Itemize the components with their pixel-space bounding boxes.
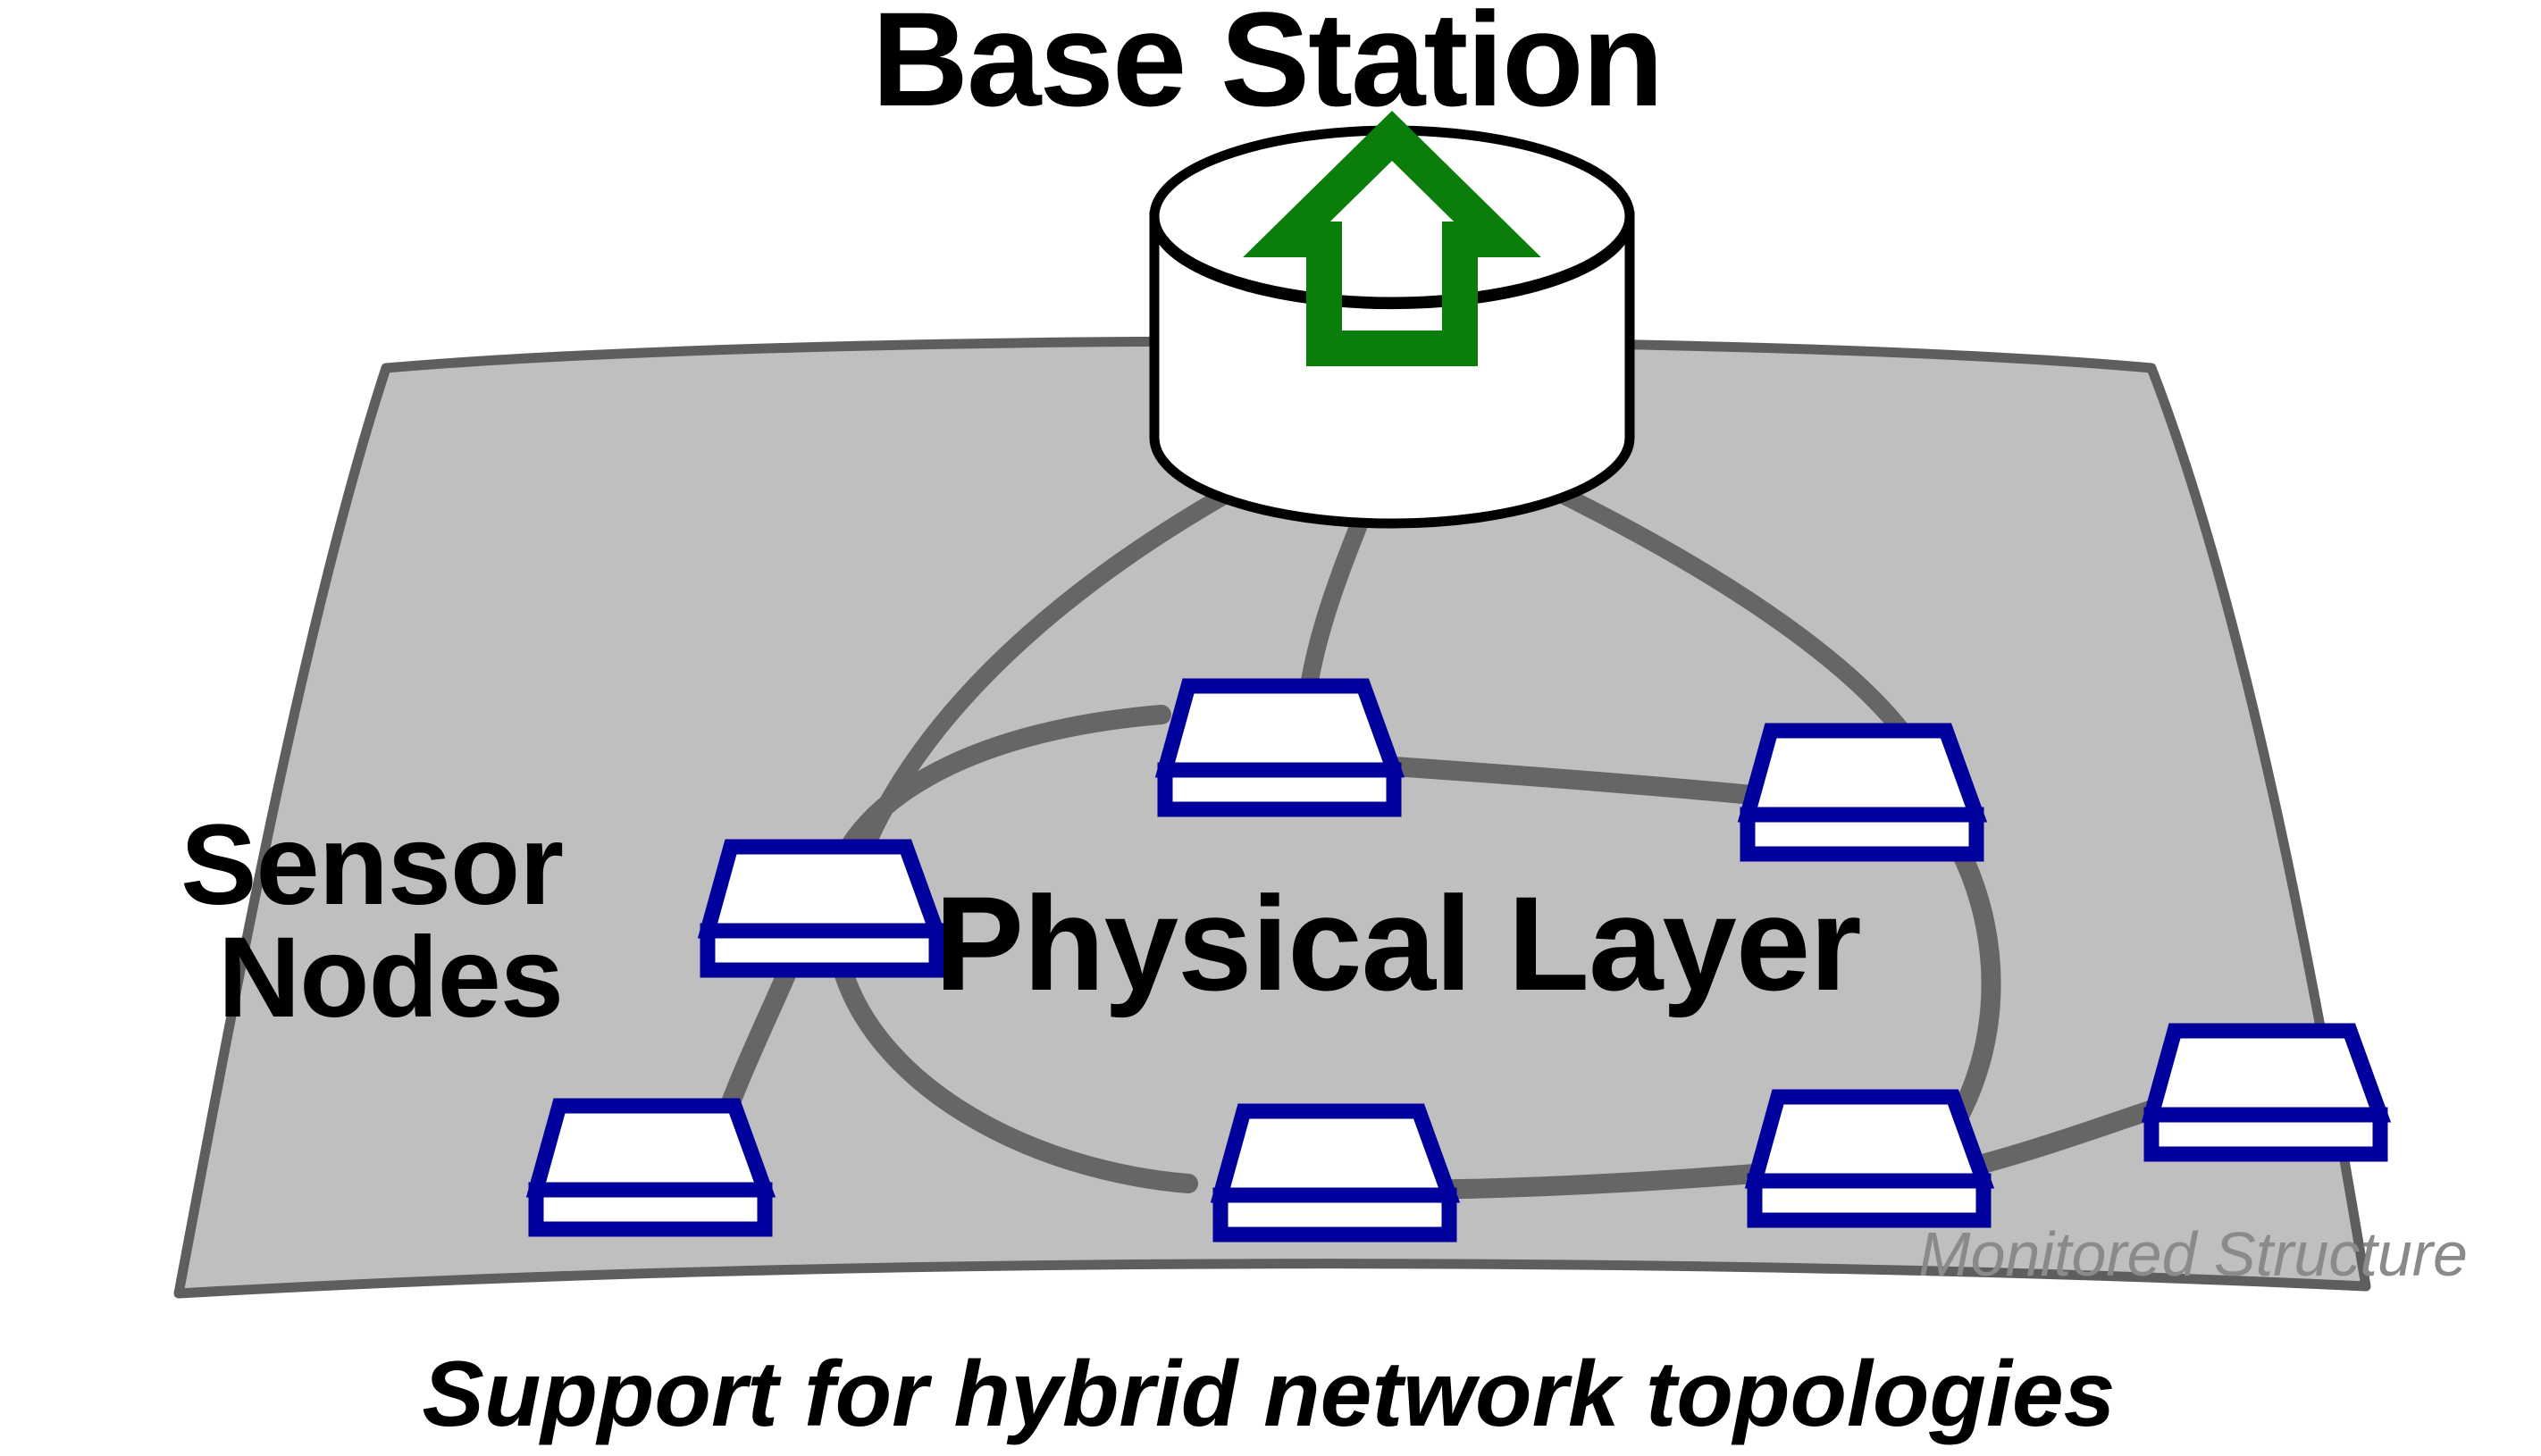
sensor-node-mid-left[interactable] [708,847,936,970]
sensor-node-bottom-right[interactable] [1755,1097,1983,1220]
sensor-node-far-right[interactable] [2151,1031,2380,1154]
physical-layer-label: Physical Layer [935,868,1861,1018]
sensor-node-upper-right[interactable] [1748,731,1976,854]
sensor-node-body [708,847,936,931]
sensor-node-body [1220,1111,1449,1195]
sensor-nodes-label-line1: Sensor [180,801,563,929]
sensor-node-base [1165,770,1394,809]
sensor-node-base [1755,1181,1983,1220]
sensor-node-base [708,931,936,970]
base-station-cylinder-icon[interactable] [1154,130,1630,523]
diagram-caption: Support for hybrid network topologies [422,1343,2115,1446]
sensor-node-base [1220,1195,1449,1234]
monitored-structure-label: Monitored Structure [1918,1219,2468,1289]
sensor-node-top-center[interactable] [1165,686,1394,809]
sensor-node-base [536,1190,765,1229]
sensor-node-body [2151,1031,2380,1115]
sensor-node-bottom-center[interactable] [1220,1111,1449,1234]
wsn-architecture-diagram: Base Station Sensor Nodes Physical Layer… [0,0,2541,1456]
sensor-node-bottom-left[interactable] [536,1106,765,1229]
sensor-node-body [536,1106,765,1190]
page-title: Base Station [872,0,1663,134]
sensor-node-base [1748,815,1976,854]
diagram-canvas: Base Station Sensor Nodes Physical Layer… [0,0,2541,1456]
sensor-nodes-label-line2: Nodes [218,914,563,1042]
sensor-node-base [2151,1115,2380,1154]
sensor-node-body [1755,1097,1983,1181]
sensor-node-body [1748,731,1976,815]
sensor-node-body [1165,686,1394,770]
